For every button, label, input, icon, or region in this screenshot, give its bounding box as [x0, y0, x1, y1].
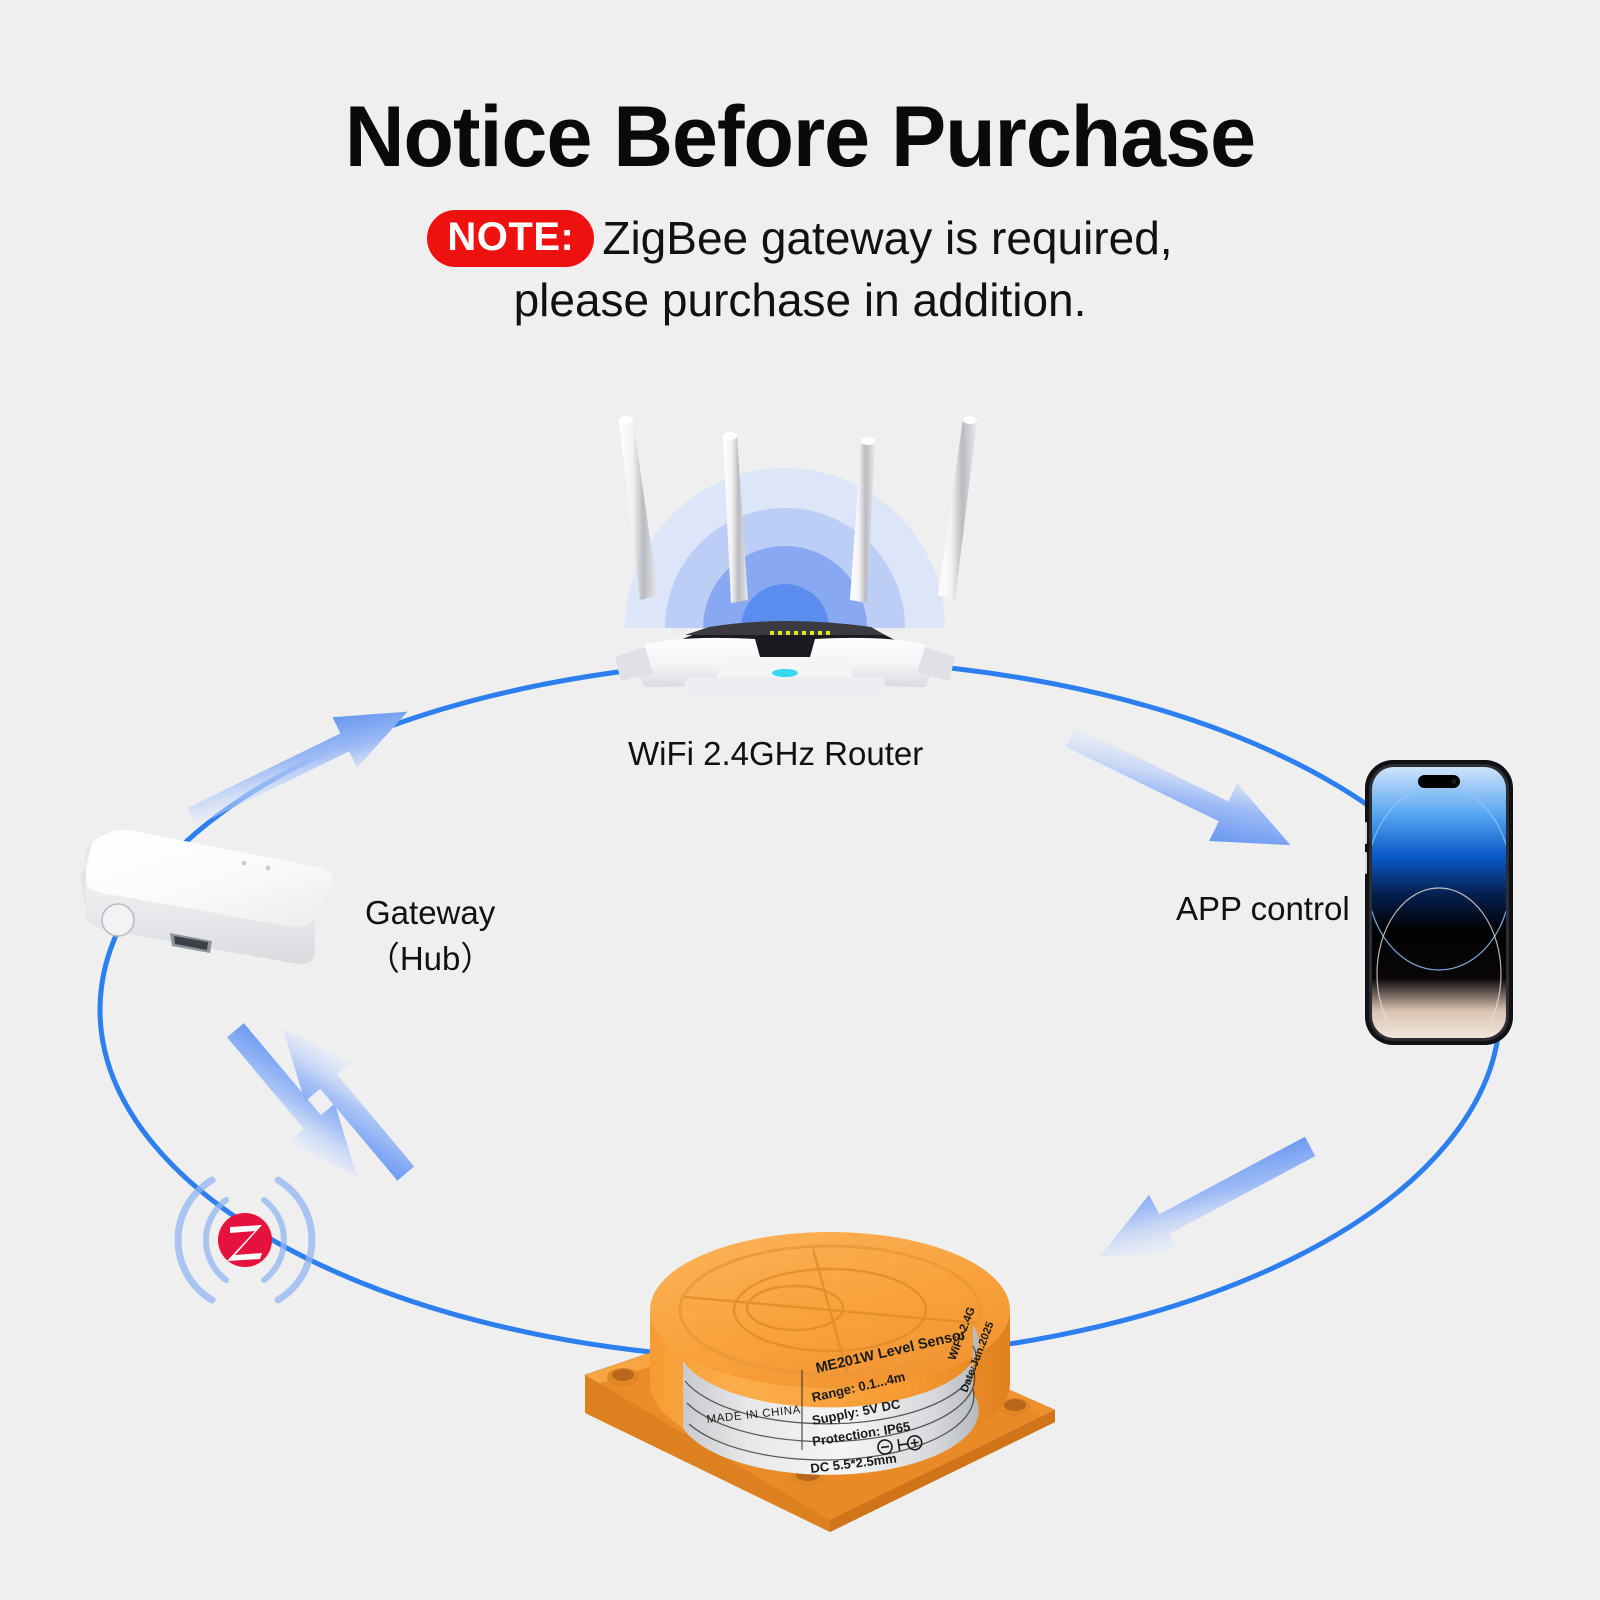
- arrow-phone-to-sensor: [1085, 1117, 1325, 1285]
- arrow-hub-to-router: [180, 687, 420, 843]
- flow-arrows: [0, 0, 1600, 1600]
- infographic-page: Notice Before Purchase NOTE:ZigBee gatew…: [0, 0, 1600, 1600]
- arrow-router-to-phone: [1056, 709, 1304, 874]
